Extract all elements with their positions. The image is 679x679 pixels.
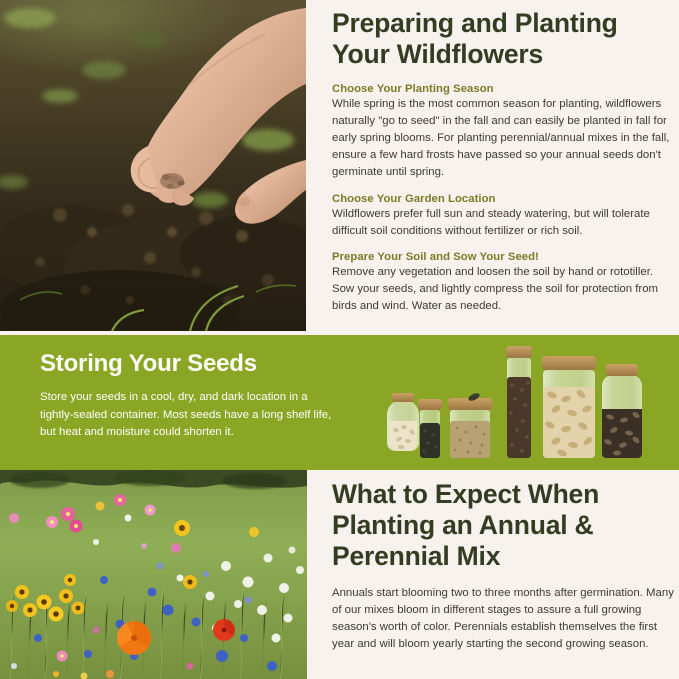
title-spacer-2 [332, 572, 674, 585]
body-what-to-expect: Annuals start blooming two to three mont… [332, 585, 674, 653]
subhead-garden-location: Choose Your Garden Location [332, 193, 674, 205]
wildflower-meadow-photo [0, 470, 307, 679]
section1-text-column: Preparing and Planting Your Wildflowers … [332, 8, 674, 326]
jar-speckled-seeds [602, 364, 642, 458]
section-what-to-expect: What to Expect When Planting an Annual &… [0, 470, 679, 679]
body-planting-season: While spring is the most common season f… [332, 96, 674, 182]
jar-tall-brown [506, 346, 532, 458]
body-storing-seeds: Store your seeds in a cool, dry, and dar… [40, 389, 340, 441]
body-prepare-soil: Remove any vegetation and loosen the soi… [332, 264, 674, 315]
section-storing-your-seeds: Storing Your Seeds Store your seeds in a… [0, 335, 679, 470]
subhead-planting-season: Choose Your Planting Season [332, 83, 674, 95]
soil-illustration [0, 0, 306, 331]
jars-illustration [370, 335, 679, 470]
section-preparing-and-planting: Preparing and Planting Your Wildflowers … [0, 0, 679, 335]
title-spacer [332, 70, 674, 83]
section-title-storing: Storing Your Seeds [40, 351, 340, 377]
jar-tan-grain [448, 392, 492, 458]
section2-text-column: Storing Your Seeds Store your seeds in a… [40, 351, 340, 441]
subhead-prepare-soil: Prepare Your Soil and Sow Your Seed! [332, 251, 674, 263]
page-title-preparing: Preparing and Planting Your Wildflowers [332, 8, 674, 70]
hand-sowing-seeds-photo [0, 0, 306, 331]
body-garden-location: Wildflowers prefer full sun and steady w… [332, 206, 674, 240]
jar-pumpkin-seeds [542, 356, 596, 458]
section3-text-column: What to Expect When Planting an Annual &… [332, 479, 674, 664]
section-title-what-to-expect: What to Expect When Planting an Annual &… [332, 479, 674, 572]
jar-dark-seeds [418, 399, 442, 458]
seed-jars-photo [370, 335, 679, 470]
meadow-illustration [0, 470, 307, 679]
infographic-page: Preparing and Planting Your Wildflowers … [0, 0, 679, 679]
